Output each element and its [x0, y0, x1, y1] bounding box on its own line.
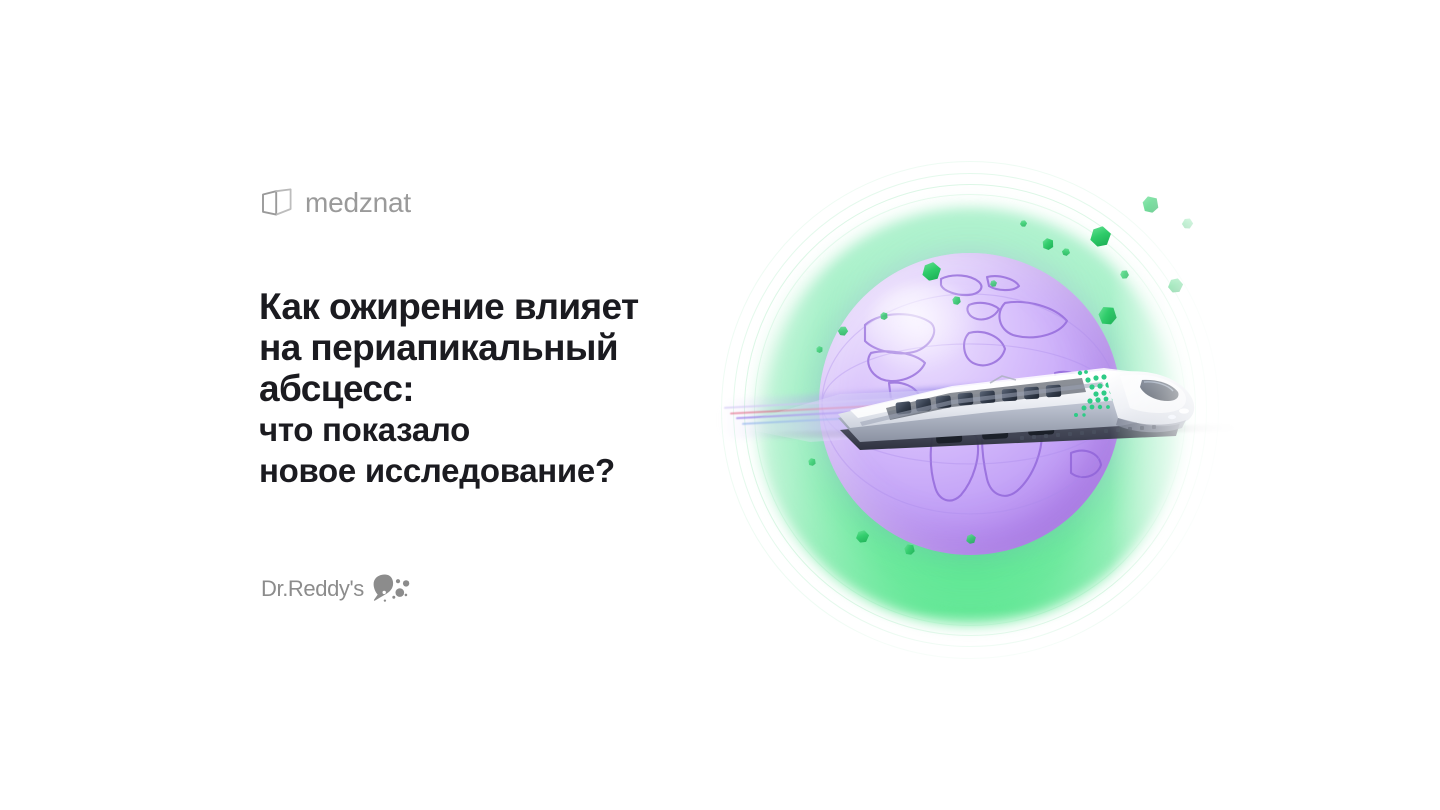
- dr-reddys-wordmark: Dr.Reddy's: [261, 578, 364, 600]
- medznat-brand[interactable]: medznat: [260, 188, 411, 218]
- green-cube: [1095, 303, 1120, 328]
- medznat-wordmark: medznat: [305, 189, 411, 217]
- green-cube: [1140, 194, 1161, 215]
- banner-root: medznat Как ожирение влияет на периапика…: [0, 0, 1440, 810]
- headline-line-5: новое исследование?: [259, 450, 639, 491]
- green-cube: [989, 279, 997, 287]
- green-cube: [920, 260, 942, 282]
- green-cube: [965, 533, 976, 544]
- green-cube: [807, 457, 817, 467]
- headline-line-3: абсцесс:: [259, 368, 639, 409]
- green-cube: [1060, 246, 1071, 257]
- green-cube: [1118, 268, 1130, 280]
- green-cube: [836, 324, 850, 338]
- headline-line-2: на периапикальный: [259, 327, 639, 368]
- green-cube: [1041, 237, 1055, 251]
- green-cube-particles: [690, 130, 1250, 690]
- page-title: Как ожирение влияет на периапикальный аб…: [259, 286, 639, 491]
- headline-line-1: Как ожирение влияет: [259, 286, 639, 327]
- green-cube: [816, 346, 824, 354]
- green-cube: [1019, 219, 1028, 228]
- hero-illustration: [690, 130, 1250, 690]
- dr-reddys-brand[interactable]: Dr.Reddy's: [261, 572, 411, 606]
- green-cube: [902, 542, 916, 556]
- headline-line-4: что показало: [259, 409, 639, 450]
- medznat-book-icon: [260, 188, 294, 218]
- green-cube: [879, 311, 888, 320]
- green-cube: [1166, 276, 1185, 295]
- green-cube: [854, 528, 870, 544]
- green-cube: [1088, 224, 1113, 249]
- green-cube: [1180, 216, 1195, 231]
- green-cube: [951, 295, 963, 307]
- dr-reddys-droplet-dots-icon: [371, 572, 411, 606]
